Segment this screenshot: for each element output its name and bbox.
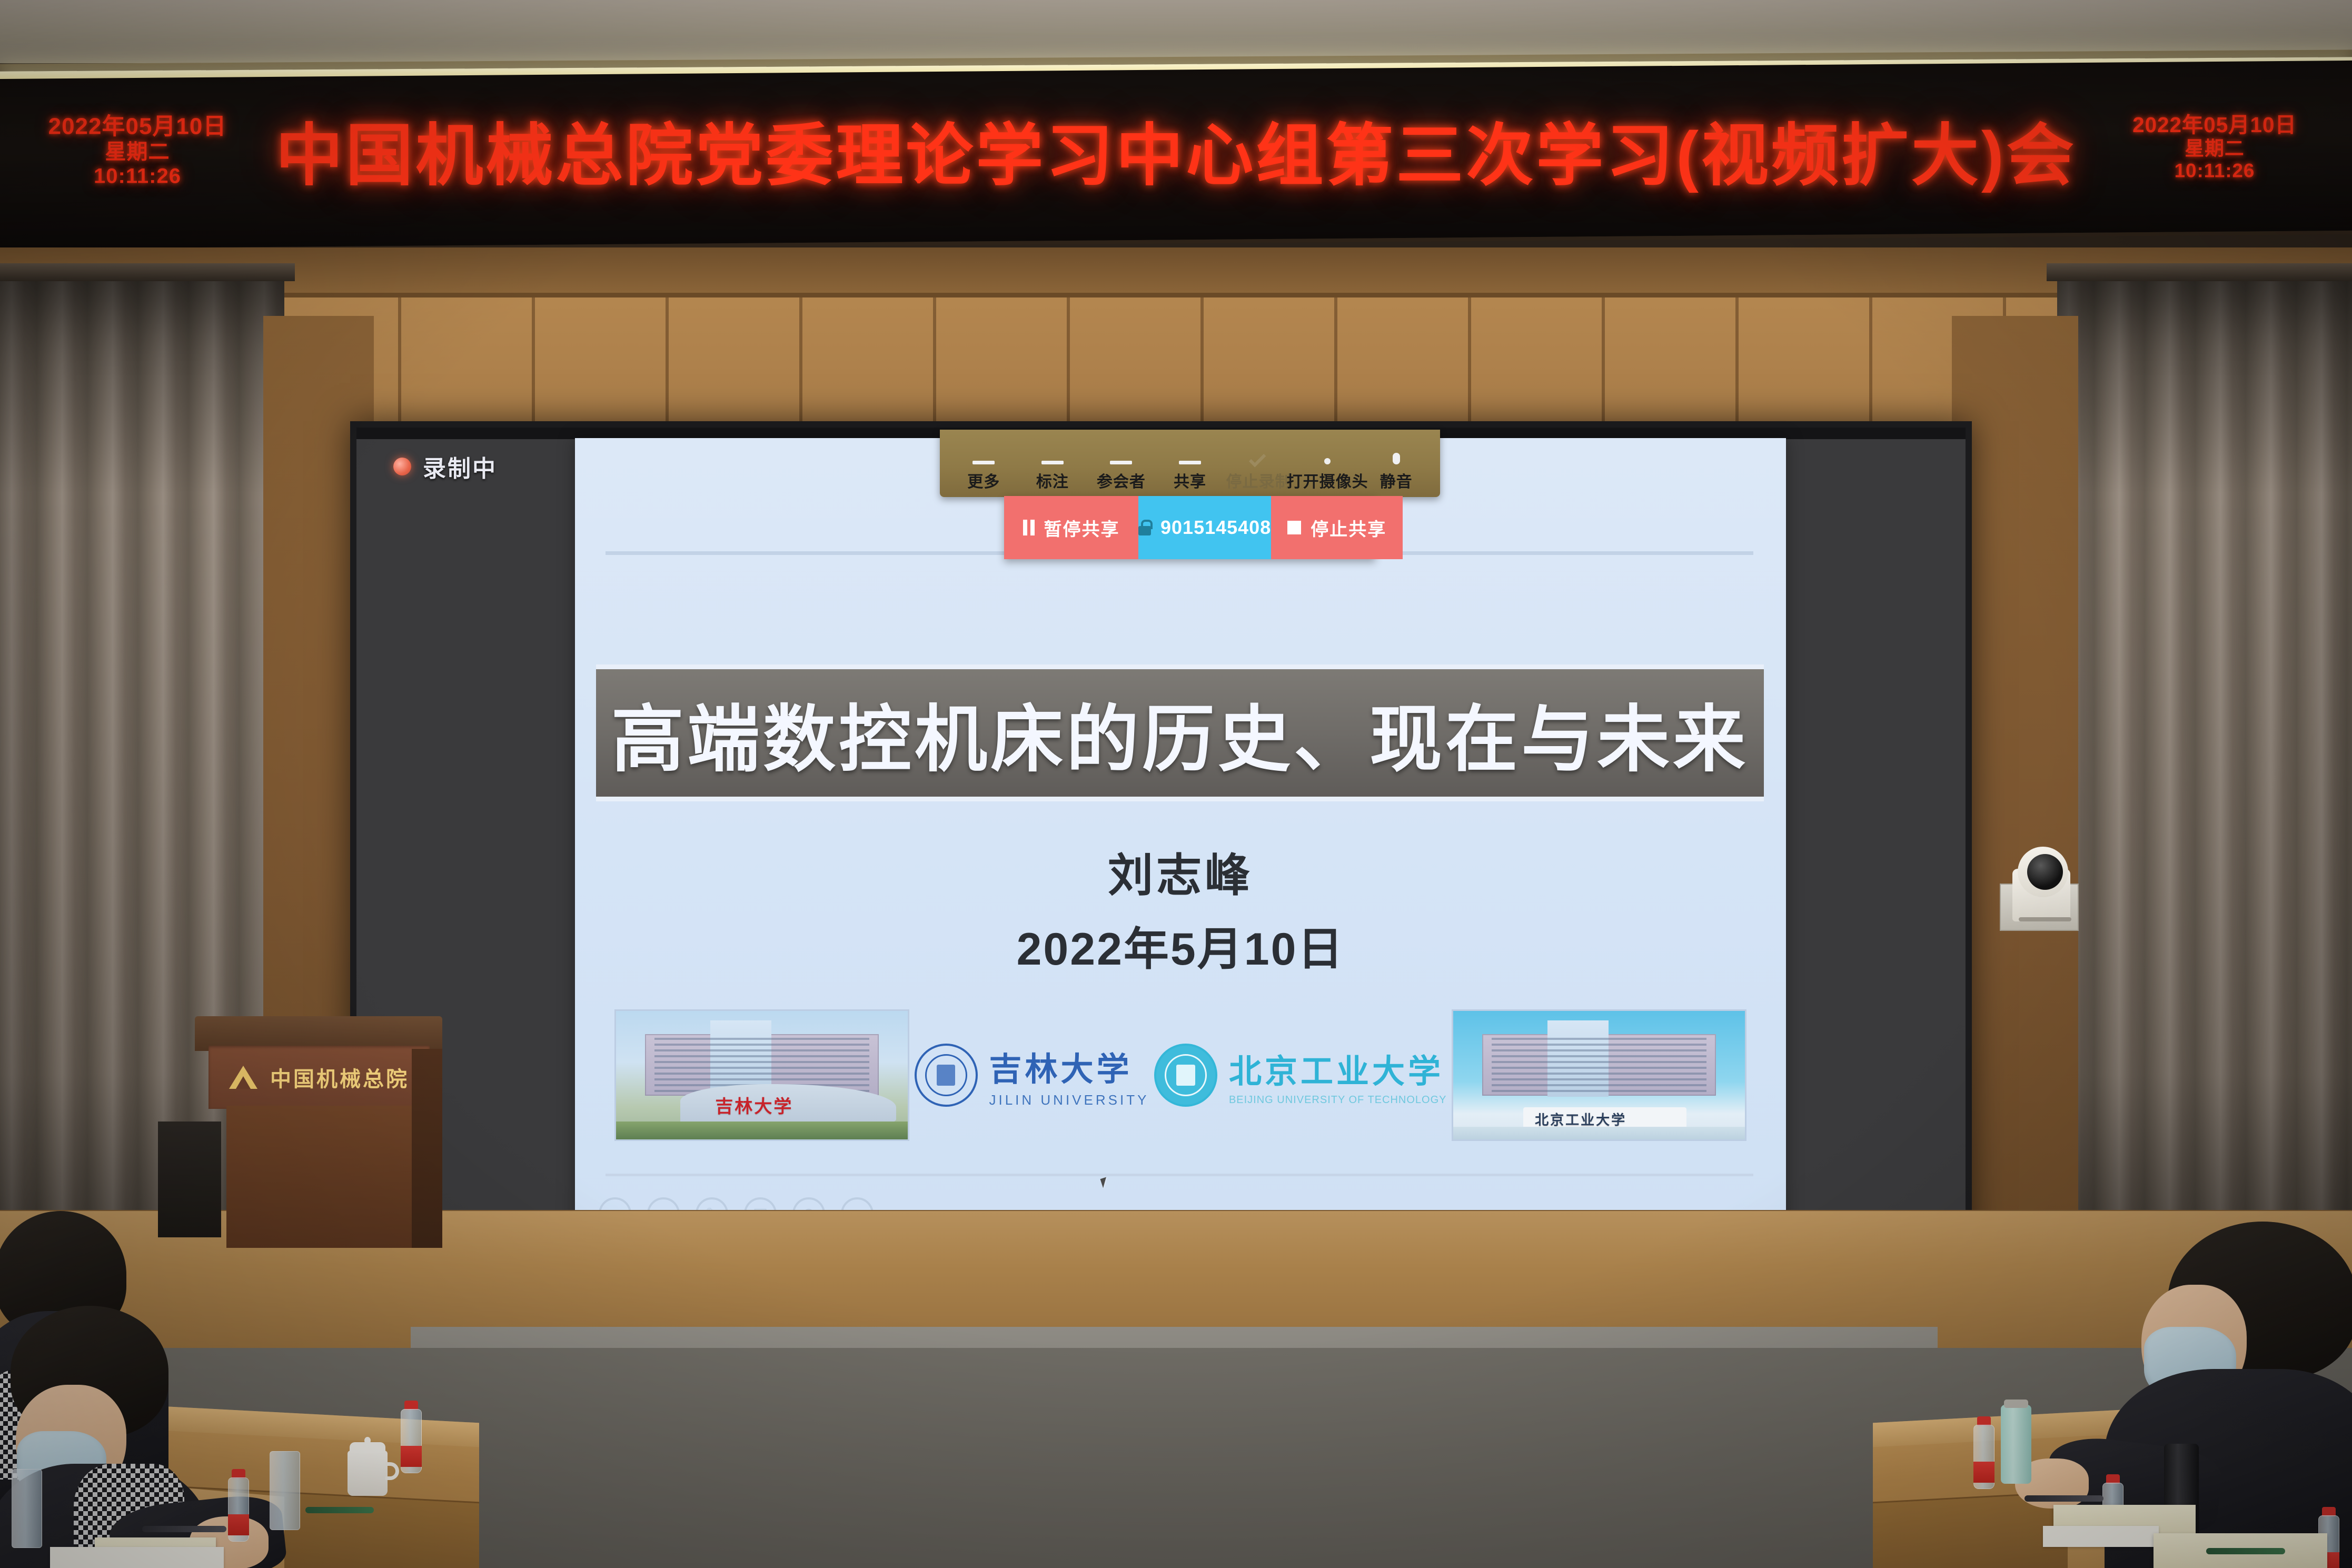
slide-logo-row: 吉林大学 吉林大学 JILIN UNIVERSITY 北京工业大学 BEIJIN… [604,996,1757,1154]
water-bottle [226,1469,251,1548]
drinking-glass-left [12,1469,42,1548]
chevron-down-icon [1248,450,1266,468]
pause-share-label: 暂停共享 [1044,515,1120,541]
wall-trim-line [0,293,2352,297]
zoom-participants-button[interactable]: 参会者 [1090,443,1152,492]
recording-label: 录制中 [423,450,497,483]
more-bar-icon [972,461,995,464]
curtain-rail-left [0,263,295,281]
zoom-share-button[interactable]: 共享 [1159,443,1221,492]
zoom-stop-recording-label: 停止录制 [1226,469,1292,492]
slide-bottom-rule [606,1174,1753,1176]
projection-screen: 录制中 高端数控机床的历史、现在与未来 刘志峰 2022年5月10日 吉林大学 [350,421,1972,1269]
mountain-triangle-icon [229,1066,259,1089]
slide-date: 2022年5月10日 [575,912,1786,978]
stop-icon [1287,521,1301,534]
led-right-date: 2022年05月10日 [2101,113,2328,137]
wall-upper-band [0,247,2352,295]
jilin-seal-icon [915,1044,978,1107]
slide-title-band: 高端数控机床的历史、现在与未来 [596,664,1764,801]
jilin-university-logo: 吉林大学 JILIN UNIVERSITY [915,1043,1149,1108]
pause-icon [1023,520,1035,535]
zoom-annotate-button[interactable]: 标注 [1021,443,1084,492]
jilin-name-cn: 吉林大学 [989,1043,1149,1090]
zoom-mute-button[interactable]: 静音 [1365,443,1427,492]
microphone-icon [1393,453,1400,464]
recording-dot-icon [393,458,411,475]
pen [142,1526,226,1532]
zoom-mute-label: 静音 [1380,469,1413,492]
drinking-glass [270,1451,300,1530]
share-bar-icon [1179,461,1201,464]
bjut-university-logo: 北京工业大学 BEIJING UNIVERSITY OF TECHNOLOGY [1154,1044,1447,1107]
jilin-campus-caption: 吉林大学 [715,1092,890,1118]
led-banner: 2022年05月10日 星期二 10:11:26 中国机械总院党委理论学习中心组… [0,61,2352,253]
participants-bar-icon [1110,461,1132,464]
ptz-camera [2000,847,2079,931]
zoom-participants-label: 参会者 [1097,469,1146,492]
recording-indicator: 录制中 [393,450,497,483]
thermos-mint [2001,1405,2031,1484]
paper-document [2043,1526,2159,1547]
bjut-name-en: BEIJING UNIVERSITY OF TECHNOLOGY [1229,1094,1447,1106]
pen [2206,1548,2285,1554]
conference-room-scene: 2022年05月10日 星期二 10:11:26 中国机械总院党委理论学习中心组… [0,0,2352,1568]
podium-organization-label: 中国机械总院 [270,1062,409,1093]
meeting-id-value: 9015145408 [1160,517,1271,539]
podium-nameplate: 中国机械总院 [209,1046,430,1109]
led-right-time: 10:11:26 [2101,160,2328,182]
bjut-name-cn: 北京工业大学 [1229,1045,1447,1092]
water-bottle [399,1401,423,1480]
led-right-weekday: 星期二 [2101,137,2328,160]
led-right-datetime: 2022年05月10日 星期二 10:11:26 [2101,113,2328,182]
annotate-bar-icon [1041,461,1064,464]
stop-share-label: 停止共享 [1311,515,1386,541]
jilin-name-en: JILIN UNIVERSITY [989,1092,1149,1108]
bjut-seal-icon [1154,1044,1217,1107]
zoom-stop-recording-button[interactable]: 停止录制 [1228,443,1290,492]
led-left-date: 2022年05月10日 [14,113,261,140]
zoom-start-video-label: 打开摄像头 [1287,469,1368,492]
zoom-share-bar[interactable]: 暂停共享 9015145408 停止共享 [1004,496,1375,559]
led-left-weekday: 星期二 [14,140,261,164]
zoom-annotate-label: 标注 [1036,469,1069,492]
pen [305,1507,374,1513]
slide-title: 高端数控机床的历史、现在与未来 [611,680,1749,786]
zoom-more-button[interactable]: 更多 [952,443,1015,492]
slide-presenter-name: 刘志峰 [575,838,1786,904]
camera-dot-icon [1324,458,1331,464]
paper-document [50,1547,224,1568]
meeting-id-display[interactable]: 9015145408 [1138,496,1271,559]
zoom-share-label: 共享 [1174,469,1206,492]
led-left-datetime: 2022年05月10日 星期二 10:11:26 [14,113,261,188]
curtain-rail-right [2047,263,2352,281]
camera-lens-icon [2027,854,2063,890]
zoom-start-video-button[interactable]: 打开摄像头 [1296,443,1358,492]
jilin-campus-photo: 吉林大学 [614,1009,909,1141]
water-bottle [1972,1416,1996,1495]
lock-icon [1138,520,1151,535]
podium: 中国机械总院 [195,1016,442,1248]
curtain-right [2057,274,2352,1274]
led-left-time: 10:11:26 [14,164,261,188]
tea-cup-with-lid [348,1451,388,1496]
pen [2024,1495,2103,1502]
bjut-campus-photo: 北京工业大学 [1452,1009,1746,1141]
zoom-meeting-toolbar[interactable]: 更多 标注 参会者 共享 停止录制 打开摄像头 [940,430,1440,497]
led-banner-title: 中国机械总院党委理论学习中心组第三次学习(视频扩大)会 [261,101,2091,198]
pause-share-button[interactable]: 暂停共享 [1004,496,1138,559]
zoom-more-label: 更多 [967,469,1000,492]
stop-share-button[interactable]: 停止共享 [1271,496,1403,559]
